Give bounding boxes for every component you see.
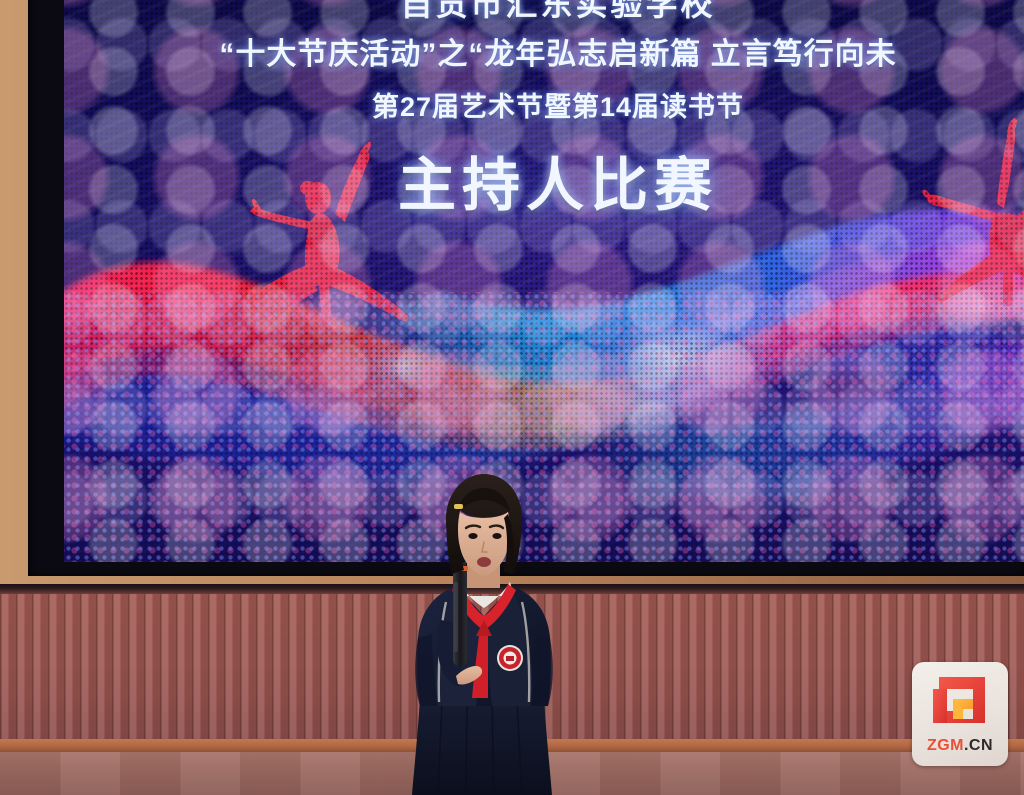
student-presenter [372,470,592,795]
presenter-school-badge [497,645,523,671]
presenter-head [446,474,522,576]
watermark-badge: ZGM.CN [912,662,1008,766]
hair-clip [454,504,463,509]
zgm-logo-icon [929,671,991,733]
watermark-brand: ZGM [927,737,964,754]
watermark-text: ZGM.CN [927,737,993,755]
stage-photo-scene: 自贡市汇东实验学校 “十大节庆活动”之“龙年弘志启新篇 立言笃行向未 第27届艺… [0,0,1024,795]
presenter-skirt [412,698,552,795]
watermark-tld: .CN [964,737,993,754]
